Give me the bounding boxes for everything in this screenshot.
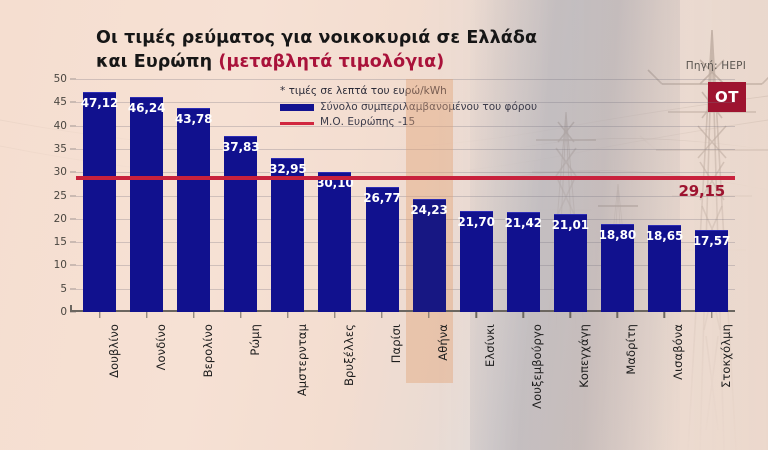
bar-slot[interactable]: 32,95Αμστερνταμ: [264, 79, 311, 312]
bar[interactable]: 21,01: [554, 214, 587, 312]
source-label: Πηγή: HEPI: [596, 60, 746, 72]
bar[interactable]: 26,77: [366, 187, 399, 312]
y-axis-tick-label: 5: [60, 283, 67, 295]
bar-value-label: 26,77: [363, 191, 400, 205]
bar-slot[interactable]: 21,01Κοπεγχάγη: [547, 79, 594, 312]
bar-value-label: 18,65: [646, 229, 683, 243]
x-axis-tick-mark: [193, 312, 194, 318]
bar-slot[interactable]: 21,42Λουξεμβούργο: [500, 79, 547, 312]
x-axis-category-label: Μαδρίτη: [624, 324, 638, 375]
y-axis-tick-label: 15: [54, 236, 67, 248]
chart-plot-area: 05101520253035404550 47,12Δουβλίνο46,24Λ…: [76, 79, 735, 312]
bar-value-label: 21,42: [505, 216, 542, 230]
bar-slot[interactable]: 30,10Βρυξέλλες: [311, 79, 358, 312]
title-accent: (μεταβλητά τιμολόγια): [218, 52, 444, 72]
title-line-2: και Ευρώπη: [96, 52, 218, 72]
x-axis-category-label: Στοκχόλμη: [719, 324, 733, 388]
chart-screenshot: Οι τιμές ρεύματος για νοικοκυριά σε Ελλά…: [0, 0, 768, 450]
y-axis-tick-label: 25: [54, 190, 67, 202]
x-axis-tick-mark: [570, 312, 571, 318]
x-axis-tick-mark: [240, 312, 241, 318]
y-axis-tick-label: 10: [54, 259, 67, 271]
bar-value-label: 47,12: [81, 96, 118, 110]
bar-slot[interactable]: 46,24Λονδίνο: [123, 79, 170, 312]
x-axis-tick-mark: [664, 312, 665, 318]
bar-value-label: 18,80: [599, 228, 636, 242]
x-axis-tick-mark: [146, 312, 147, 318]
bar-value-label: 43,78: [175, 112, 212, 126]
y-axis-tick-label: 20: [54, 213, 67, 225]
x-axis: [70, 310, 735, 312]
x-axis-tick-mark: [711, 312, 712, 318]
bar[interactable]: 47,12: [83, 92, 116, 312]
bar[interactable]: 18,80: [601, 224, 634, 312]
bar-slot[interactable]: 43,78Βερολίνο: [170, 79, 217, 312]
x-axis-tick-mark: [334, 312, 335, 318]
bar[interactable]: 18,65: [648, 225, 681, 312]
bar-value-label: 32,95: [269, 162, 306, 176]
bar[interactable]: 46,24: [130, 97, 163, 312]
y-axis-tick-label: 50: [54, 73, 67, 85]
x-axis-tick-mark: [381, 312, 382, 318]
average-value-label: 29,15: [679, 182, 725, 200]
bar[interactable]: 21,42: [507, 212, 540, 312]
y-axis-tick-label: 30: [54, 166, 67, 178]
bar[interactable]: 17,57: [695, 230, 728, 312]
y-axis-tick-label: 45: [54, 96, 67, 108]
x-axis-tick-mark: [287, 312, 288, 318]
y-axis-cap: [70, 305, 72, 312]
x-axis-category-label: Βερολίνο: [201, 324, 215, 377]
y-axis-tick-label: 40: [54, 120, 67, 132]
y-axis-tick-label: 0: [60, 306, 67, 318]
bar-value-label: 24,23: [410, 203, 447, 217]
bar[interactable]: 24,23: [413, 199, 446, 312]
bar-value-label: 21,70: [457, 215, 494, 229]
x-axis-tick-mark: [428, 312, 429, 318]
x-axis-category-label: Δουβλίνο: [107, 324, 121, 378]
title-line-1: Οι τιμές ρεύματος για νοικοκυριά σε Ελλά…: [96, 28, 537, 48]
bar[interactable]: 21,70: [460, 211, 493, 312]
x-axis-category-label: Κοπεγχάγη: [577, 324, 591, 388]
x-axis-category-label: Λονδίνο: [154, 324, 168, 370]
x-axis-category-label: Παρίσι: [389, 324, 403, 363]
average-line: [76, 176, 735, 179]
bar[interactable]: 30,10: [318, 172, 351, 312]
x-axis-category-label: Ρώμη: [248, 324, 262, 356]
bar[interactable]: 43,78: [177, 108, 210, 312]
bar-series: 47,12Δουβλίνο46,24Λονδίνο43,78Βερολίνο37…: [76, 79, 735, 312]
x-axis-tick-mark: [523, 312, 524, 318]
page-title: Οι τιμές ρεύματος για νοικοκυριά σε Ελλά…: [96, 26, 616, 74]
x-axis-tick-mark: [617, 312, 618, 318]
bar-slot[interactable]: 24,23Αθήνα: [406, 79, 453, 312]
bar-value-label: 17,57: [693, 234, 730, 248]
x-axis-category-label: Ελσίνκι: [483, 324, 497, 367]
bar-value-label: 37,83: [222, 140, 259, 154]
x-axis-tick-mark: [475, 312, 476, 318]
bar-value-label: 21,01: [552, 218, 589, 232]
x-axis-tick-mark: [99, 312, 100, 318]
bar[interactable]: 32,95: [271, 158, 304, 312]
bar-slot[interactable]: 47,12Δουβλίνο: [76, 79, 123, 312]
x-axis-category-label: Αθήνα: [436, 324, 450, 361]
bar-value-label: 46,24: [128, 101, 165, 115]
bar[interactable]: 37,83: [224, 136, 257, 312]
x-axis-category-label: Λισαβόνα: [671, 324, 685, 380]
bar-slot[interactable]: 26,77Παρίσι: [358, 79, 405, 312]
bar-slot[interactable]: 37,83Ρώμη: [217, 79, 264, 312]
x-axis-category-label: Αμστερνταμ: [295, 324, 309, 396]
bar-slot[interactable]: 21,70Ελσίνκι: [453, 79, 500, 312]
x-axis-category-label: Λουξεμβούργο: [530, 324, 544, 409]
x-axis-category-label: Βρυξέλλες: [342, 324, 356, 386]
y-axis-tick-label: 35: [54, 143, 67, 155]
bar-slot[interactable]: 18,80Μαδρίτη: [594, 79, 641, 312]
